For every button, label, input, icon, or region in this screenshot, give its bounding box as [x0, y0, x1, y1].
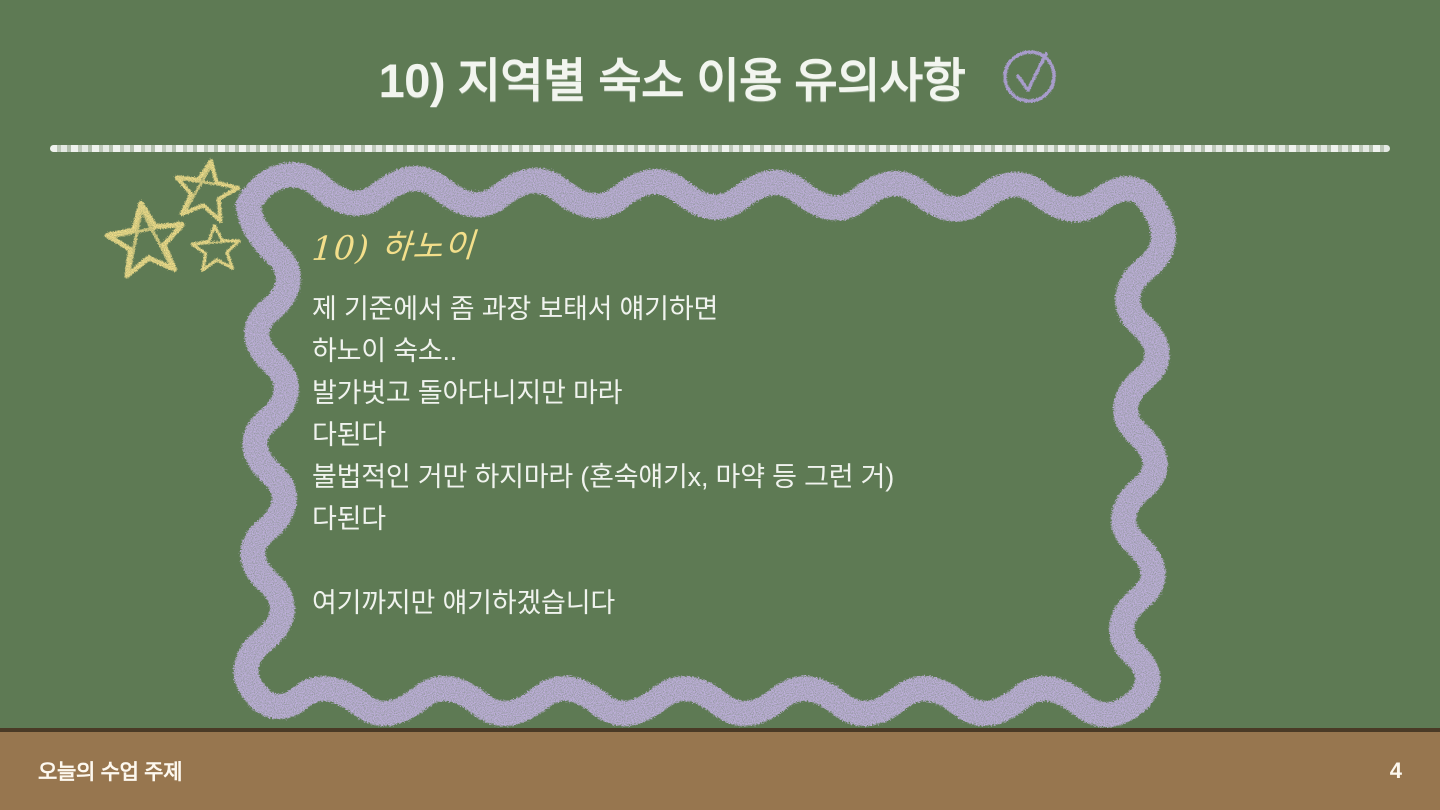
wavy-frame-bottom: [256, 689, 1140, 715]
content-block: 10) 하노이 제 기준에서 좀 과장 보태서 얘기하면 하노이 숙소.. 발가…: [312, 222, 1012, 624]
body-line: 여기까지만 얘기하겠습니다: [312, 582, 1012, 624]
body-line: 발가벗고 돌아다니지만 마라: [312, 372, 1012, 414]
wavy-frame-right: [1122, 205, 1164, 698]
page-title: 10) 지역별 숙소 이용 유의사항: [379, 42, 966, 111]
page-number: 4: [1390, 758, 1402, 784]
body-line: 하노이 숙소..: [312, 330, 1012, 372]
body-line: 불법적인 거만 하지마라 (혼숙얘기x, 마약 등 그런 거): [312, 456, 1012, 498]
sub-heading: 10) 하노이: [310, 207, 1014, 270]
wavy-frame-left: [246, 205, 288, 694]
star-large-icon: [103, 198, 188, 278]
star-medium-icon: [170, 156, 241, 223]
body-line: 제 기준에서 좀 과장 보태서 얘기하면: [312, 288, 1012, 330]
title-row: 10) 지역별 숙소 이용 유의사항: [0, 42, 1440, 111]
footer-bar: 오늘의 수업 주제 4: [0, 728, 1440, 810]
body-line-spacer: [312, 540, 1012, 582]
check-circle-icon: [999, 46, 1061, 108]
body-line: 다된다: [312, 414, 1012, 456]
wavy-frame-top: [248, 175, 1152, 210]
star-small-icon: [191, 224, 241, 271]
slide-canvas: 10) 지역별 숙소 이용 유의사항 10) 하노이 제 기준에서 좀 과장 보…: [0, 0, 1440, 810]
footer-label: 오늘의 수업 주제: [38, 756, 182, 786]
title-divider: [50, 145, 1390, 152]
body-lines: 제 기준에서 좀 과장 보태서 얘기하면 하노이 숙소.. 발가벗고 돌아다니지…: [312, 288, 1012, 624]
body-line: 다된다: [312, 498, 1012, 540]
star-decorations: [103, 156, 241, 278]
